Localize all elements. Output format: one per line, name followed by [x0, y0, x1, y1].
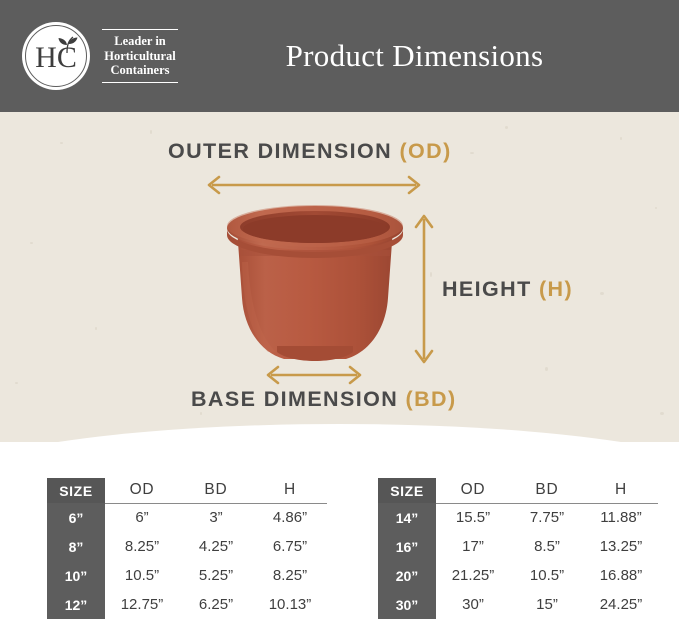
cell-od: 15.5”: [436, 503, 510, 532]
base-dimension-abbr: (BD): [406, 387, 457, 411]
texture-speck: [620, 137, 622, 140]
cell-size: 8”: [47, 532, 105, 561]
cell-od: 21.25”: [436, 561, 510, 590]
cell-od: 12.75”: [105, 590, 179, 619]
cell-bd: 7.75”: [510, 503, 584, 532]
cell-h: 6.75”: [253, 532, 327, 561]
height-arrow: [414, 210, 434, 368]
texture-speck: [470, 152, 474, 154]
table-row: 14” 15.5” 7.75” 11.88”: [378, 503, 658, 532]
col-header-od: OD: [105, 478, 179, 503]
texture-speck: [545, 367, 548, 371]
outer-dimension-abbr: (OD): [399, 139, 451, 163]
texture-speck: [30, 242, 33, 244]
leaf-sprout-icon: [56, 36, 82, 54]
table-row: 20” 21.25” 10.5” 16.88”: [378, 561, 658, 590]
texture-speck: [655, 207, 657, 209]
texture-speck: [95, 327, 97, 330]
cell-h: 8.25”: [253, 561, 327, 590]
page-title: Product Dimensions: [0, 0, 679, 112]
cell-bd: 3”: [179, 503, 253, 532]
cell-size: 12”: [47, 590, 105, 619]
cell-od: 10.5”: [105, 561, 179, 590]
table-sizes-small: SIZE OD BD H 6” 6” 3” 4.86” 8” 8.25” 4.2…: [47, 478, 327, 619]
cell-size: 14”: [378, 503, 436, 532]
base-dimension-text: BASE DIMENSION: [191, 387, 398, 411]
cell-size: 10”: [47, 561, 105, 590]
table-row: 12” 12.75” 6.25” 10.13”: [47, 590, 327, 619]
header-band: HC Leader in Horticultural Containers Pr…: [0, 0, 679, 112]
table-sizes-large: SIZE OD BD H 14” 15.5” 7.75” 11.88” 16” …: [378, 478, 658, 619]
cell-od: 30”: [436, 590, 510, 619]
diagram-panel: OUTER DIMENSION (OD) HEIGHT (H) B: [0, 112, 679, 442]
cell-bd: 15”: [510, 590, 584, 619]
cell-od: 17”: [436, 532, 510, 561]
cell-od: 8.25”: [105, 532, 179, 561]
height-abbr: (H): [539, 277, 573, 301]
cell-bd: 5.25”: [179, 561, 253, 590]
col-header-h: H: [253, 478, 327, 503]
height-label: HEIGHT (H): [442, 277, 573, 302]
planter-pot-illustration: [222, 202, 408, 374]
col-header-h: H: [584, 478, 658, 503]
cell-bd: 4.25”: [179, 532, 253, 561]
outer-dimension-label: OUTER DIMENSION (OD): [168, 139, 452, 164]
table-header-row: SIZE OD BD H: [378, 478, 658, 503]
texture-speck: [200, 412, 202, 415]
cell-size: 16”: [378, 532, 436, 561]
table-header-row: SIZE OD BD H: [47, 478, 327, 503]
cell-h: 13.25”: [584, 532, 658, 561]
texture-speck: [60, 142, 63, 144]
table-row: 6” 6” 3” 4.86”: [47, 503, 327, 532]
table-row: 16” 17” 8.5” 13.25”: [378, 532, 658, 561]
col-header-od: OD: [436, 478, 510, 503]
cell-bd: 6.25”: [179, 590, 253, 619]
base-dimension-label: BASE DIMENSION (BD): [191, 387, 457, 412]
table-row: 10” 10.5” 5.25” 8.25”: [47, 561, 327, 590]
texture-speck: [150, 130, 152, 134]
texture-speck: [505, 126, 508, 129]
cell-size: 20”: [378, 561, 436, 590]
product-dimensions-infographic: HC Leader in Horticultural Containers Pr…: [0, 0, 679, 636]
cell-bd: 8.5”: [510, 532, 584, 561]
texture-speck: [660, 412, 664, 415]
texture-speck: [15, 382, 18, 384]
cell-bd: 10.5”: [510, 561, 584, 590]
col-header-bd: BD: [510, 478, 584, 503]
cell-od: 6”: [105, 503, 179, 532]
texture-speck: [600, 292, 604, 295]
panel-bottom-curve: [0, 424, 679, 442]
outer-dimension-text: OUTER DIMENSION: [168, 139, 392, 163]
height-text: HEIGHT: [442, 277, 532, 301]
cell-h: 11.88”: [584, 503, 658, 532]
cell-h: 16.88”: [584, 561, 658, 590]
outer-dimension-arrow: [203, 175, 425, 195]
col-header-bd: BD: [179, 478, 253, 503]
col-header-size: SIZE: [378, 478, 436, 503]
table-row: 8” 8.25” 4.25” 6.75”: [47, 532, 327, 561]
col-header-size: SIZE: [47, 478, 105, 503]
table-row: 30” 30” 15” 24.25”: [378, 590, 658, 619]
cell-h: 4.86”: [253, 503, 327, 532]
cell-h: 24.25”: [584, 590, 658, 619]
cell-size: 30”: [378, 590, 436, 619]
cell-size: 6”: [47, 503, 105, 532]
cell-h: 10.13”: [253, 590, 327, 619]
